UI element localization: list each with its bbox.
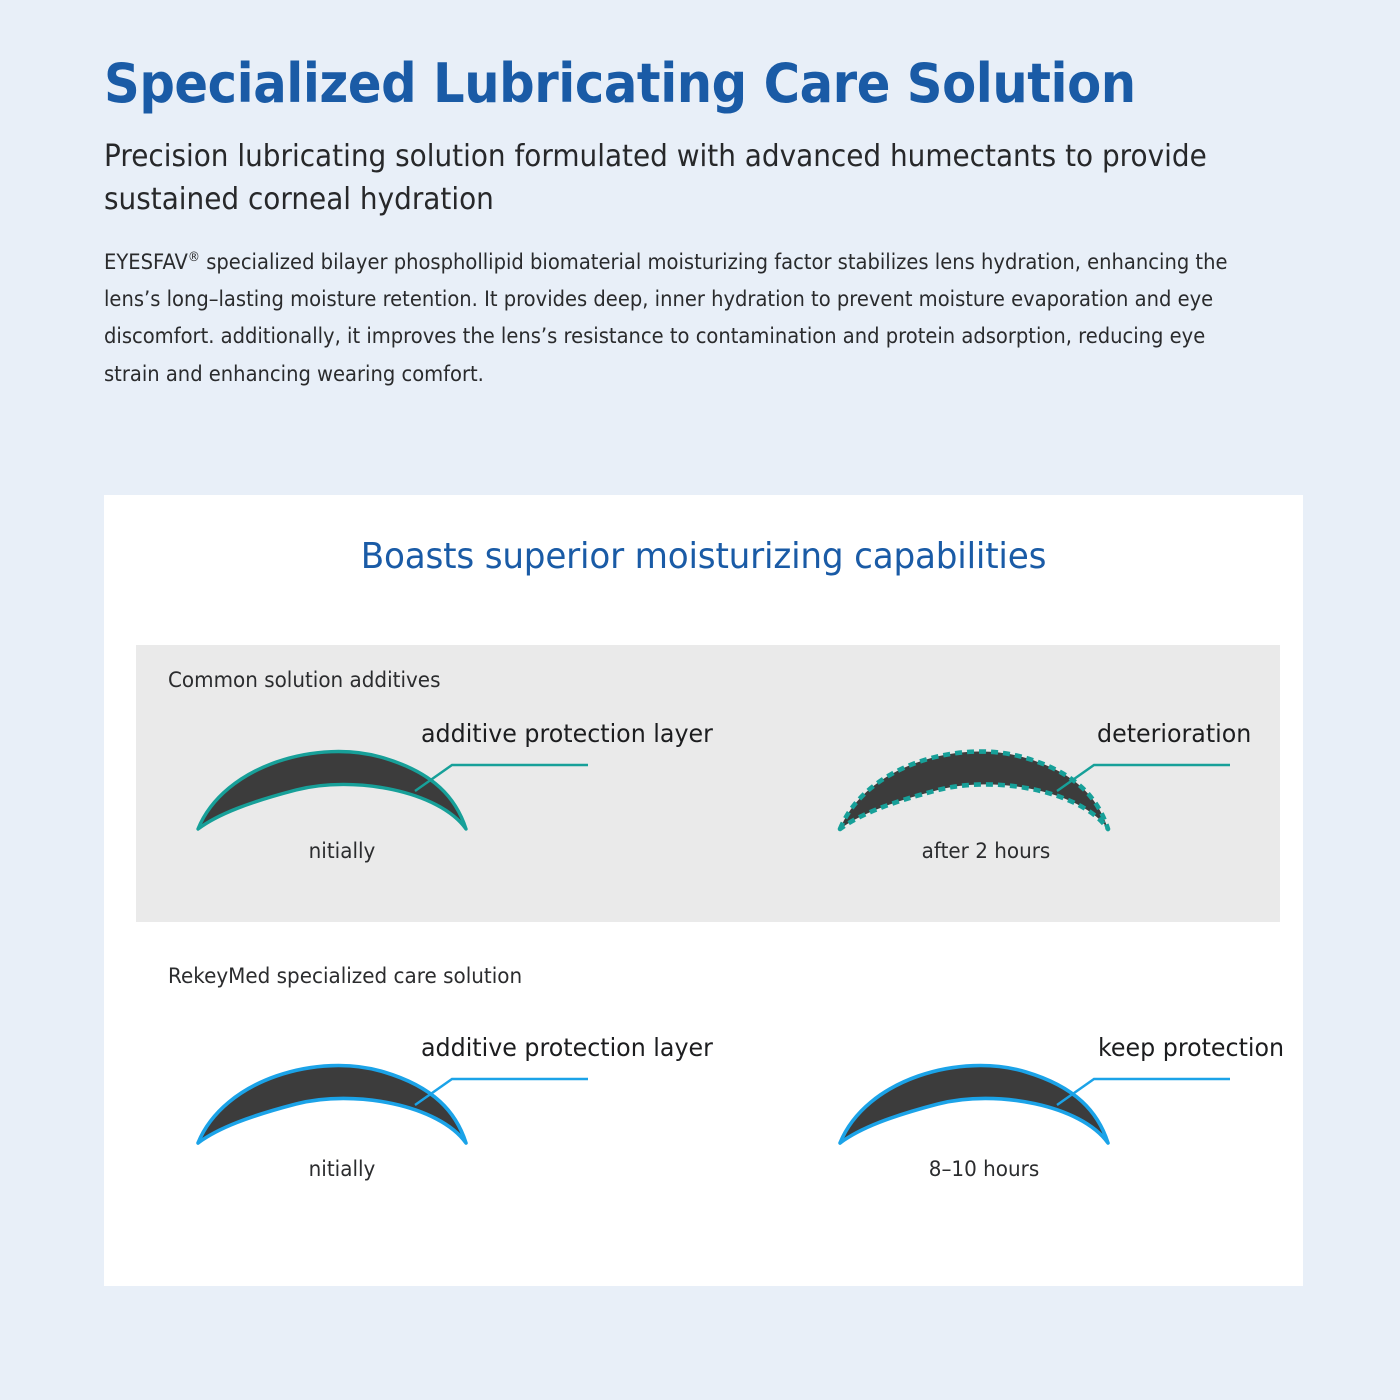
registered-mark-icon: ® (188, 250, 200, 265)
figure-common-initial: additive protection layer nitially (184, 713, 614, 903)
figure-rekeymed-8-10-hours: keep protection 8–10 hours (826, 1027, 1256, 1217)
figure-caption: nitially (257, 839, 428, 863)
panel-common-additives: Common solution additives additive prote… (136, 645, 1280, 922)
figure-rekeymed-initial: additive protection layer nitially (184, 1027, 614, 1217)
annotation-label: additive protection layer (421, 1033, 713, 1062)
lens-body-shape (198, 1066, 466, 1143)
figure-caption: after 2 hours (891, 839, 1081, 863)
figure-caption: 8–10 hours (889, 1157, 1079, 1181)
panel-label-common-additives: Common solution additives (168, 668, 440, 692)
page-title: Specialized Lubricating Care Solution (104, 54, 1237, 114)
panel-rekeymed-solution: RekeyMed specialized care solution addit… (136, 947, 1280, 1247)
lens-body-shape-deteriorated (840, 752, 1108, 829)
panel-label-rekeymed-solution: RekeyMed specialized care solution (168, 964, 522, 988)
lens-body-shape (198, 752, 466, 829)
body-paragraph-text: specialized bilayer phosphollipid biomat… (104, 250, 1227, 386)
annotation-label: keep protection (1098, 1033, 1284, 1062)
page-subtitle: Precision lubricating solution formulate… (104, 136, 1250, 221)
header-block: Specialized Lubricating Care Solution Pr… (104, 54, 1336, 393)
lens-body-shape (840, 1066, 1108, 1143)
card-title: Boasts superior moisturizing capabilitie… (134, 536, 1273, 577)
brand-name: EYESFAV (104, 250, 188, 274)
annotation-label: additive protection layer (421, 719, 713, 748)
body-paragraph: EYESFAV® specialized bilayer phosphollip… (104, 244, 1250, 394)
figure-common-after-2-hours: deterioration after 2 hours (826, 713, 1256, 903)
page-root: Specialized Lubricating Care Solution Pr… (0, 0, 1400, 1400)
figure-caption: nitially (257, 1157, 428, 1181)
feature-card: Boasts superior moisturizing capabilitie… (104, 495, 1303, 1286)
annotation-label: deterioration (1097, 719, 1251, 748)
